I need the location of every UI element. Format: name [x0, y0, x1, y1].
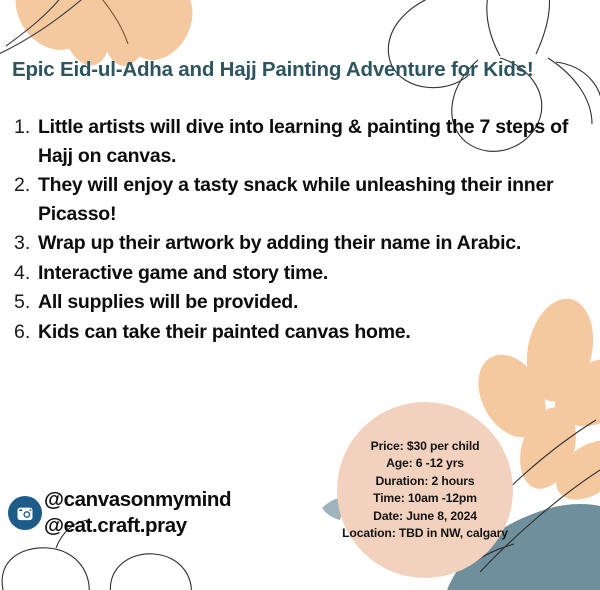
- list-item-number: 2.: [14, 171, 38, 200]
- list-item-number: 6.: [14, 318, 38, 347]
- list-item-text: Wrap up their artwork by adding their na…: [38, 229, 589, 258]
- list-item-text: They will enjoy a tasty snack while unle…: [38, 171, 589, 228]
- list-item-text: All supplies will be provided.: [38, 288, 589, 317]
- social-handles: @canvasonmymind @eat.craft.pray: [44, 487, 231, 539]
- instagram-handle-primary[interactable]: @canvasonmymind: [44, 487, 231, 513]
- list-item: 5. All supplies will be provided.: [14, 288, 589, 317]
- list-item: 1. Little artists will dive into learnin…: [14, 113, 589, 170]
- detail-duration: Duration: 2 hours: [340, 473, 510, 491]
- instagram-icon[interactable]: [8, 496, 42, 530]
- activity-steps-list: 1. Little artists will dive into learnin…: [14, 113, 589, 347]
- poster-canvas: Epic Eid-ul-Adha and Hajj Painting Adven…: [0, 0, 600, 590]
- social-contact-block: @canvasonmymind @eat.craft.pray: [8, 487, 231, 539]
- detail-date: Date: June 8, 2024: [340, 508, 510, 526]
- detail-age: Age: 6 -12 yrs: [340, 455, 510, 473]
- list-item-number: 5.: [14, 288, 38, 317]
- detail-price: Price: $30 per child: [340, 438, 510, 456]
- poster-content: Epic Eid-ul-Adha and Hajj Painting Adven…: [0, 0, 600, 590]
- event-details-text: Price: $30 per child Age: 6 -12 yrs Dura…: [340, 438, 510, 543]
- list-item: 6. Kids can take their painted canvas ho…: [14, 318, 589, 347]
- list-item: 2. They will enjoy a tasty snack while u…: [14, 171, 589, 228]
- list-item-number: 4.: [14, 259, 38, 288]
- event-details-badge: Price: $30 per child Age: 6 -12 yrs Dura…: [337, 402, 513, 578]
- detail-time: Time: 10am -12pm: [340, 490, 510, 508]
- detail-location: Location: TBD in NW, calgary: [340, 525, 510, 543]
- list-item-text: Kids can take their painted canvas home.: [38, 318, 589, 347]
- instagram-handle-secondary[interactable]: @eat.craft.pray: [44, 513, 231, 539]
- list-item-number: 3.: [14, 229, 38, 258]
- list-item: 4. Interactive game and story time.: [14, 259, 589, 288]
- page-title: Epic Eid-ul-Adha and Hajj Painting Adven…: [12, 58, 592, 82]
- list-item-text: Little artists will dive into learning &…: [38, 113, 589, 170]
- list-item-text: Interactive game and story time.: [38, 259, 589, 288]
- list-item-number: 1.: [14, 113, 38, 142]
- list-item: 3. Wrap up their artwork by adding their…: [14, 229, 589, 258]
